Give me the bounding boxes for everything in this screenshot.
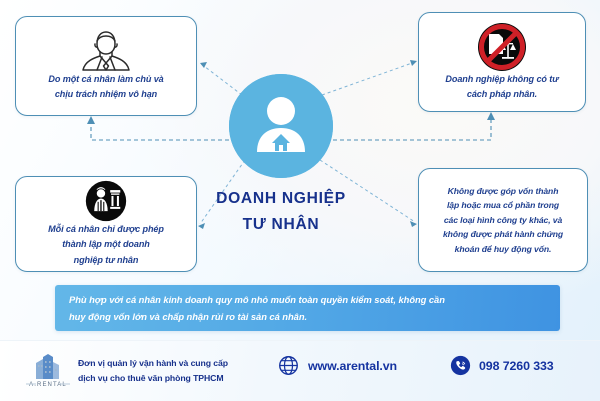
caption-line: Mỗi cá nhân chỉ được phép: [48, 222, 164, 238]
caption-line: khoán để huy động vốn.: [443, 242, 563, 257]
infographic-canvas: DOANH NGHIỆP TƯ NHÂN Do một cá nhân làm …: [0, 0, 600, 400]
caption-line: nghiệp tư nhân: [48, 253, 164, 269]
title-line-1: DOANH NGHIỆP: [178, 186, 384, 212]
phone-contact[interactable]: 098 7260 333: [450, 355, 554, 376]
person-house-icon: [229, 74, 333, 178]
feature-box-top-left[interactable]: Do một cá nhân làm chủ và chịu trách nhi…: [15, 16, 197, 116]
banner-line-1: Phù hợp với cá nhân kinh doanh quy mô nh…: [55, 291, 560, 308]
phone-text: 098 7260 333: [479, 359, 554, 373]
feature-caption: Doanh nghiệp không có tư cách pháp nhân.: [438, 72, 565, 103]
caption-line: không được phát hành chứng: [443, 227, 563, 242]
summary-banner: Phù hợp với cá nhân kinh doanh quy mô nh…: [55, 285, 560, 331]
banner-line-2: huy động vốn lớn và chấp nhận rủi ro tài…: [55, 308, 560, 325]
caption-line: Doanh nghiệp không có tư: [445, 72, 558, 88]
caption-line: các loại hình công ty khác, và: [443, 213, 563, 228]
feature-box-bottom-left[interactable]: Mỗi cá nhân chỉ được phép thành lập một …: [15, 176, 197, 272]
logo-wordmark: A.RENTAL: [29, 382, 67, 388]
feature-box-bottom-right[interactable]: Không được góp vốn thành lập hoặc mua cổ…: [418, 168, 588, 272]
page-title: DOANH NGHIỆP TƯ NHÂN: [178, 186, 384, 238]
globe-icon: [278, 355, 299, 376]
caption-line: cách pháp nhân.: [445, 87, 558, 103]
feature-caption: Mỗi cá nhân chỉ được phép thành lập một …: [41, 222, 171, 269]
caption-line: lập hoặc mua cổ phần trong: [443, 198, 563, 213]
caption-line: Không được góp vốn thành: [443, 184, 563, 199]
no-legal-document-scales-icon: [477, 22, 527, 72]
arental-logo[interactable]: A.RENTAL: [22, 351, 74, 391]
phone-icon: [450, 355, 471, 376]
website-link[interactable]: www.arental.vn: [278, 355, 397, 376]
feature-box-top-right[interactable]: Doanh nghiệp không có tư cách pháp nhân.: [418, 12, 586, 112]
tagline-line-2: dịch vụ cho thuê văn phòng TPHCM: [78, 371, 228, 386]
caption-line: chịu trách nhiệm vô hạn: [48, 87, 163, 103]
footer-tagline: Đơn vị quản lý vận hành và cung cấp dịch…: [78, 356, 228, 386]
tagline-line-1: Đơn vị quản lý vận hành và cung cấp: [78, 356, 228, 371]
footer-bar: A.RENTAL Đơn vị quản lý vận hành và cung…: [0, 340, 600, 401]
feature-caption: Không được góp vốn thành lập hoặc mua cổ…: [436, 184, 570, 257]
caption-line: Do một cá nhân làm chủ và: [48, 72, 163, 88]
website-text: www.arental.vn: [308, 359, 397, 373]
businessman-line-icon: [75, 30, 137, 72]
feature-caption: Do một cá nhân làm chủ và chịu trách nhi…: [41, 72, 170, 103]
title-line-2: TƯ NHÂN: [178, 212, 384, 238]
person-shop-badge-icon: [85, 180, 127, 222]
caption-line: thành lập một doanh: [48, 237, 164, 253]
central-node: [229, 74, 333, 178]
